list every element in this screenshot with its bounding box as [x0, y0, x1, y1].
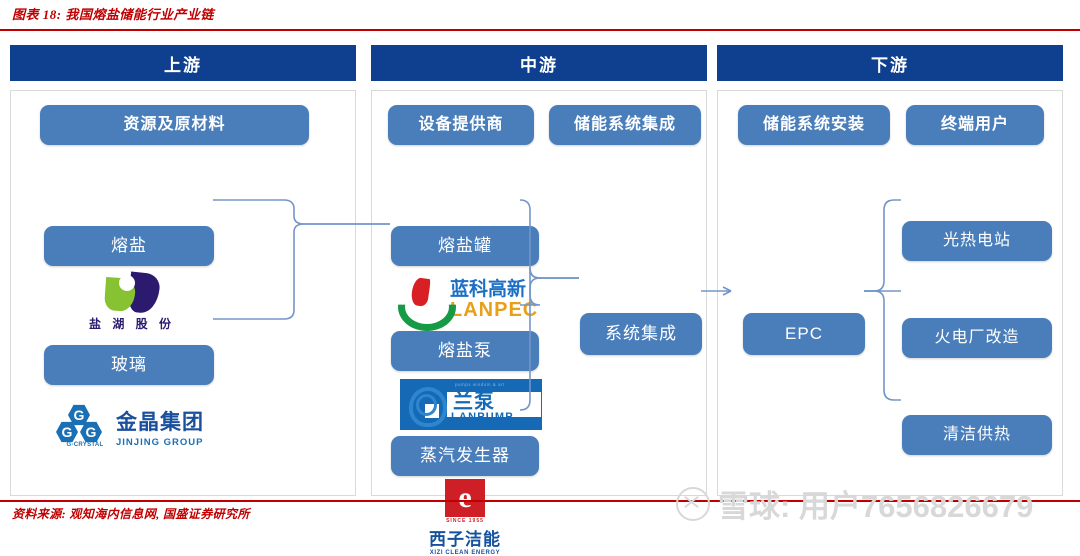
column-header-downstream: 下游 — [717, 45, 1063, 81]
column-midstream: 中游 设备提供商 储能系统集成 熔盐罐 蓝科高新 LANPEC 熔盐泵 pum — [371, 45, 707, 496]
box-glass[interactable]: 玻璃 — [44, 345, 214, 385]
lanpec-logo: 蓝科高新 LANPEC — [398, 274, 538, 322]
column-body-midstream: 设备提供商 储能系统集成 熔盐罐 蓝科高新 LANPEC 熔盐泵 pumps w… — [371, 90, 707, 496]
xueqiu-circle-icon — [676, 487, 710, 521]
title-divider — [0, 29, 1080, 31]
box-end-user[interactable]: 终端用户 — [906, 105, 1044, 145]
jinjing-mark-icon: G G G G-CRYSTAL — [56, 404, 110, 450]
xizi-logo: e SINCE 1955 西子洁能 XIZI CLEAN ENERGY — [429, 479, 501, 556]
column-header-upstream: 上游 — [10, 45, 356, 81]
source-note: 资料来源: 观知海内信息网, 国盛证券研究所 — [12, 505, 250, 522]
box-resources-and-raw-materials[interactable]: 资源及原材料 — [40, 105, 309, 145]
box-molten-salt-pump[interactable]: 熔盐泵 — [391, 331, 539, 371]
box-steam-generator[interactable]: 蒸汽发生器 — [391, 436, 539, 476]
column-upstream: 上游 资源及原材料 熔盐 盐 湖 股 份 玻璃 G G G G-CRYSTAL … — [10, 45, 356, 496]
lanpump-mark-icon: pumps wisdom & art 兰泵 LANPUMP — [400, 379, 542, 430]
lanpump-logo: pumps wisdom & art 兰泵 LANPUMP — [400, 379, 542, 430]
lanpec-flame-icon — [398, 277, 444, 319]
box-epc[interactable]: EPC — [743, 313, 865, 355]
jinjing-mark-sublabel: G-CRYSTAL — [56, 442, 114, 448]
yanhu-logo: 盐 湖 股 份 — [89, 273, 175, 332]
xizi-logo-label-en: XIZI CLEAN ENERGY — [430, 550, 501, 556]
column-body-downstream: 储能系统安装 终端用户 EPC 光热电站 火电厂改造 清洁供热 — [717, 90, 1063, 496]
page-title: 图表 18: 我国熔盐储能行业产业链 — [12, 4, 214, 23]
box-storage-system-installation[interactable]: 储能系统安装 — [738, 105, 890, 145]
xizi-logo-label-cn: 西子洁能 — [429, 525, 501, 550]
box-clean-heating[interactable]: 清洁供热 — [902, 415, 1052, 455]
xizi-since-label: SINCE 1955 — [446, 518, 484, 524]
yanhu-logo-label: 盐 湖 股 份 — [89, 315, 175, 332]
box-thermal-plant-retrofit[interactable]: 火电厂改造 — [902, 318, 1052, 358]
lanpump-logo-label-en: LANPUMP — [451, 411, 514, 423]
box-equipment-supplier[interactable]: 设备提供商 — [388, 105, 534, 145]
xizi-mark-icon: e — [445, 479, 485, 517]
xizi-mark-letter: e — [458, 483, 471, 513]
yanhu-mark-icon — [99, 273, 165, 313]
box-storage-system-integration[interactable]: 储能系统集成 — [549, 105, 701, 145]
jinjing-logo-label-en: JINJING GROUP — [116, 437, 204, 448]
column-downstream: 下游 储能系统安装 终端用户 EPC 光热电站 火电厂改造 清洁供热 — [717, 45, 1063, 496]
jinjing-logo-label-cn: 金晶集团 — [116, 406, 204, 436]
column-body-upstream: 资源及原材料 熔盐 盐 湖 股 份 玻璃 G G G G-CRYSTAL 金晶集… — [10, 90, 356, 496]
box-molten-salt[interactable]: 熔盐 — [44, 226, 214, 266]
box-system-integration[interactable]: 系统集成 — [580, 313, 702, 355]
jinjing-logo: G G G G-CRYSTAL 金晶集团 JINJING GROUP — [56, 404, 204, 450]
column-header-midstream: 中游 — [371, 45, 707, 81]
lanpec-logo-label-cn: 蓝科高新 — [450, 274, 538, 301]
watermark-label: 雪球: 用户7656826679 — [718, 481, 1033, 526]
lanpec-logo-label-en: LANPEC — [450, 299, 538, 322]
lanpump-logo-label-cn: 兰泵 — [453, 385, 495, 414]
box-csp-power-station[interactable]: 光热电站 — [902, 221, 1052, 261]
watermark: 雪球: 用户7656826679 — [676, 481, 1033, 526]
box-molten-salt-tank[interactable]: 熔盐罐 — [391, 226, 539, 266]
